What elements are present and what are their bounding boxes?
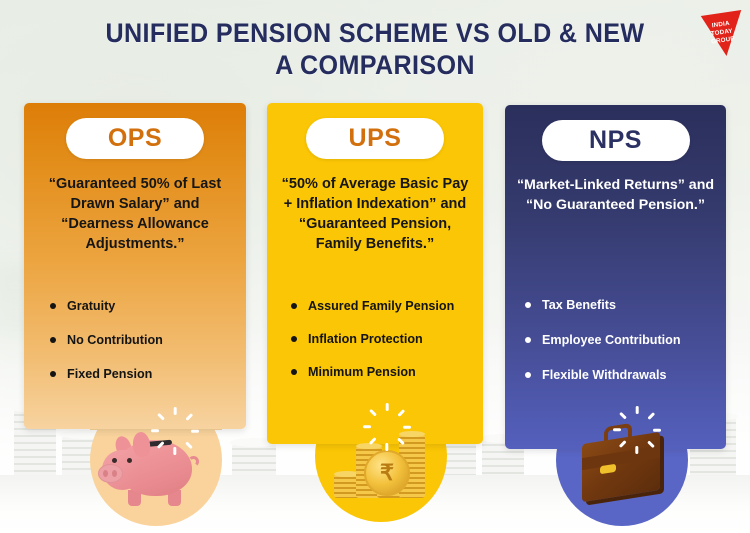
list-item: Gratuity (48, 298, 238, 316)
card-ups: UPS “50% of Average Basic Pay + Inflatio… (267, 103, 483, 444)
card-nps-bullet-list: Tax Benefits Employee Contribution Flexi… (523, 297, 718, 402)
card-ops-label: OPS (66, 124, 204, 153)
rupee-symbol: ₹ (366, 452, 408, 494)
rupee-coin-icon: ₹ (364, 450, 410, 496)
list-item: No Contribution (48, 332, 238, 350)
page-title: UNIFIED PENSION SCHEME VS OLD & NEW A CO… (26, 0, 724, 82)
card-ups-description: “50% of Average Basic Pay + Inflation In… (277, 174, 473, 254)
sparkle-icon (372, 402, 402, 432)
piggy-eye (127, 458, 132, 463)
list-item: Employee Contribution (523, 332, 718, 350)
card-ops-description: “Guaranteed 50% of Last Drawn Salary” an… (34, 174, 236, 254)
list-item: Fixed Pension (48, 366, 238, 384)
card-nps-pill: NPS (542, 120, 690, 161)
list-item: Flexible Withdrawals (523, 367, 718, 385)
sparkle-icon (160, 406, 190, 436)
list-item: Tax Benefits (523, 297, 718, 315)
card-nps: NPS “Market-Linked Returns” and “No Guar… (505, 105, 726, 449)
piggy-snout (98, 464, 123, 483)
piggy-eye (112, 458, 117, 463)
card-ops: OPS “Guaranteed 50% of Last Drawn Salary… (24, 103, 246, 429)
card-ops-bullet-list: Gratuity No Contribution Fixed Pension (48, 298, 238, 400)
card-nps-description: “Market-Linked Returns” and “No Guarante… (515, 176, 716, 215)
card-ups-pill: UPS (306, 118, 444, 159)
page-title-line-1: UNIFIED PENSION SCHEME VS OLD & NEW (106, 18, 645, 48)
card-ops-pill: OPS (66, 118, 204, 159)
list-item: Minimum Pension (289, 364, 475, 382)
page-title-line-2: A COMPARISON (26, 50, 724, 82)
card-ups-bullet-list: Assured Family Pension Inflation Protect… (289, 298, 475, 397)
sparkle-icon (622, 405, 652, 435)
header: UNIFIED PENSION SCHEME VS OLD & NEW A CO… (0, 0, 750, 82)
list-item: Inflation Protection (289, 331, 475, 349)
list-item: Assured Family Pension (289, 298, 475, 316)
card-ups-label: UPS (306, 124, 444, 153)
card-nps-label: NPS (542, 126, 690, 155)
